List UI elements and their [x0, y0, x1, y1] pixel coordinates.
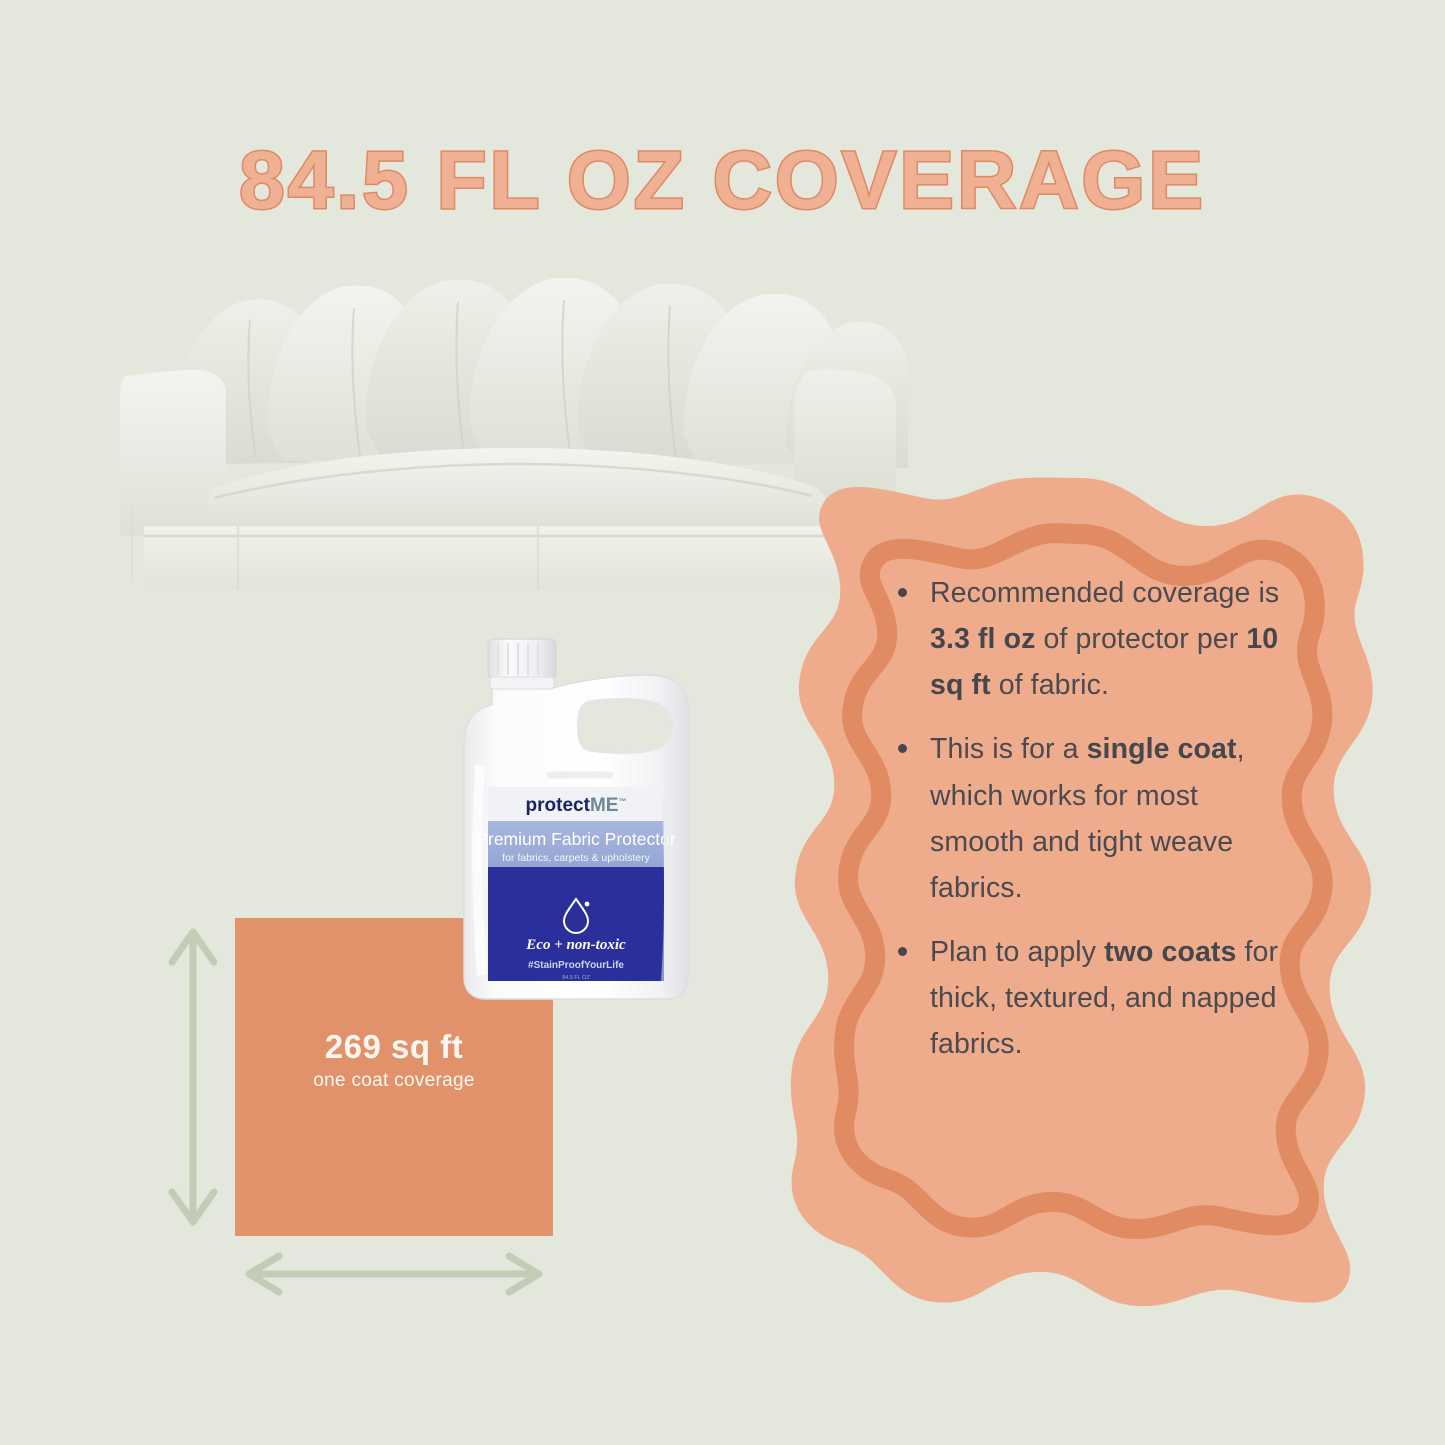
coverage-area-value: 269 sq ft — [235, 1028, 553, 1066]
infographic-canvas: 84.5 FL OZ COVERAGE — [0, 0, 1445, 1445]
tips-panel: Recommended coverage is 3.3 fl oz of pro… — [782, 472, 1378, 1312]
eco-line: Eco + non-toxic — [525, 937, 626, 953]
width-arrow — [235, 1248, 553, 1300]
page-title: 84.5 FL OZ COVERAGE — [0, 140, 1445, 222]
coverage-area-labels: 269 sq ft one coat coverage — [235, 1028, 553, 1092]
tip-text-2: Plan to apply two coats for thick, textu… — [930, 936, 1278, 1060]
height-arrow — [162, 918, 224, 1236]
product-name: Premium Fabric Protector — [476, 829, 676, 849]
product-bottle: protectME™ Premium Fabric Protector for … — [440, 625, 712, 1015]
bullet-dot — [898, 588, 907, 597]
vertical-double-arrow-icon — [162, 918, 224, 1236]
bullet-dot — [898, 947, 907, 956]
volume-line: 84.5 FL OZ — [562, 975, 590, 981]
coverage-area-caption: one coat coverage — [235, 1070, 553, 1092]
brand-name: protectME™ — [526, 795, 627, 816]
tip-text-0: Recommended coverage is 3.3 fl oz of pro… — [930, 577, 1279, 701]
tip-text-1: This is for a single coat, which works f… — [930, 733, 1245, 903]
list-item: Recommended coverage is 3.3 fl oz of pro… — [892, 570, 1282, 708]
hashtag: #StainProofYourLife — [528, 960, 624, 971]
bullet-dot — [898, 744, 907, 753]
list-item: This is for a single coat, which works f… — [892, 726, 1282, 911]
horizontal-double-arrow-icon — [235, 1248, 553, 1300]
list-item: Plan to apply two coats for thick, textu… — [892, 929, 1282, 1067]
bottle-label: protectME™ Premium Fabric Protector for … — [476, 787, 676, 981]
product-subtitle: for fabrics, carpets & upholstery — [502, 852, 650, 864]
tips-list: Recommended coverage is 3.3 fl oz of pro… — [892, 570, 1282, 1068]
bottle-illustration: protectME™ Premium Fabric Protector for … — [440, 625, 712, 1015]
